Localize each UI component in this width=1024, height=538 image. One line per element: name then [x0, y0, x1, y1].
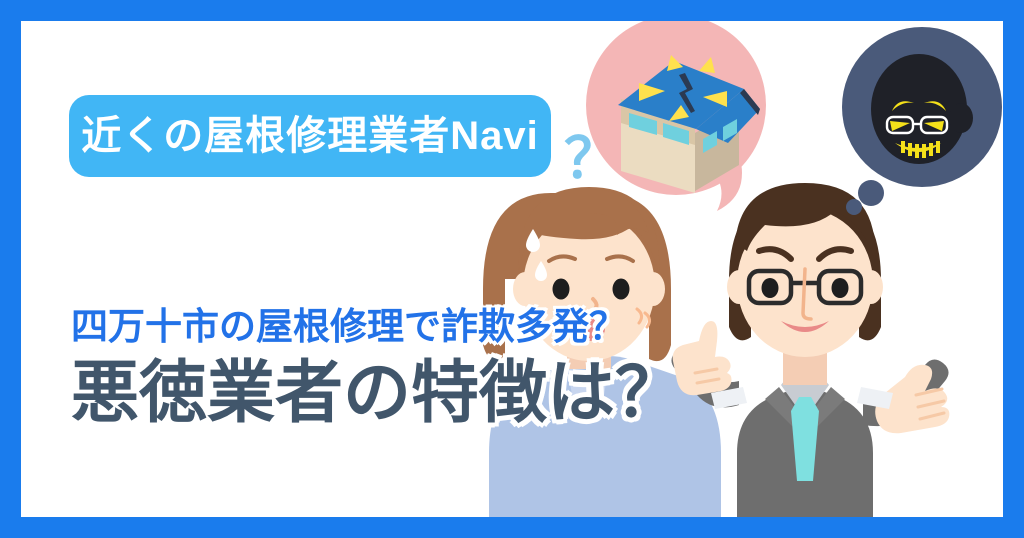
- banner-inner-canvas: ？ 近くの屋根修理業者Navi 四万十市の屋根修理で詐欺多発？ 悪徳業者の特徴は…: [21, 21, 1003, 517]
- banner-root: ？ 近くの屋根修理業者Navi 四万十市の屋根修理で詐欺多発？ 悪徳業者の特徴は…: [0, 0, 1024, 538]
- headline-block: 四万十市の屋根修理で詐欺多発？ 悪徳業者の特徴は？: [71, 306, 751, 431]
- villain-ear: [949, 103, 973, 133]
- headline-title: 悪徳業者の特徴は？: [71, 355, 751, 431]
- brand-badge[interactable]: 近くの屋根修理業者Navi: [69, 95, 551, 177]
- question-mark-icon: ？: [564, 131, 620, 187]
- headline-subtitle: 四万十市の屋根修理で詐欺多発？: [71, 306, 751, 349]
- thought-dot-medium: [858, 180, 884, 206]
- brand-badge-label: 近くの屋根修理業者Navi: [81, 116, 539, 156]
- thought-dot-small: [846, 199, 862, 215]
